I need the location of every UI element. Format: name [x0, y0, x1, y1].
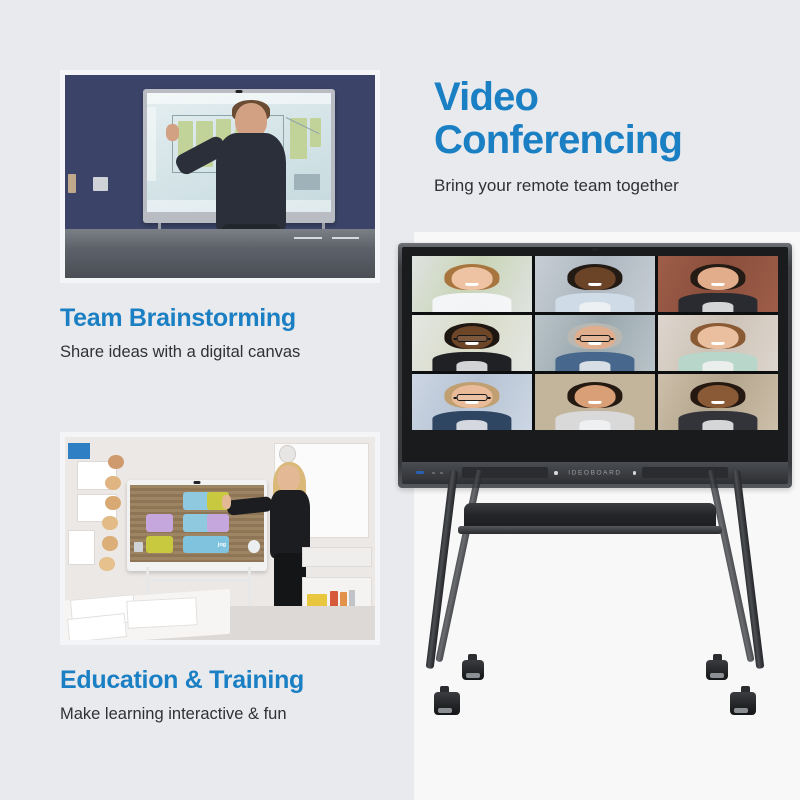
- wall-outlet-icon: [93, 177, 109, 191]
- activity-card-word: jog: [183, 536, 228, 554]
- video-participant-tile[interactable]: [535, 374, 655, 430]
- participant-glasses-icon: [457, 394, 488, 401]
- activity-card-image: [146, 536, 173, 554]
- participant-face: [698, 267, 739, 289]
- teacher-arm: [226, 496, 273, 516]
- decor-dot: [105, 496, 121, 510]
- activity-card-image: [146, 514, 173, 532]
- wall-poster: [68, 530, 95, 564]
- storage-tray-lip: [458, 526, 722, 534]
- feature-column: Team Brainstorming Share ideas with a di…: [0, 0, 414, 800]
- page-title: Video Conferencing: [434, 76, 774, 162]
- person-torso: [216, 133, 287, 231]
- caster-wheel-front: [730, 692, 756, 715]
- video-participant-tile[interactable]: [535, 315, 655, 371]
- participant-glasses-icon: [457, 335, 488, 342]
- video-participant-tile[interactable]: [658, 256, 778, 312]
- decor-dot: [105, 476, 121, 490]
- canvas-left-toolbar: [147, 107, 156, 181]
- next-arrow-icon: [248, 540, 260, 552]
- feature-subtitle: Make learning interactive & fun: [60, 704, 380, 725]
- mobile-display-stand: [398, 470, 792, 730]
- decor-dot: [102, 516, 118, 530]
- wall-poster: [68, 443, 90, 459]
- activity-card-target: [207, 514, 228, 532]
- menu-icon: [134, 542, 143, 552]
- feature-title: Education & Training: [60, 667, 380, 695]
- participant-collar: [579, 420, 610, 430]
- participant-collar: [579, 302, 610, 312]
- table-cable-port: [294, 237, 322, 239]
- participant-collar: [579, 361, 610, 371]
- teacher-head: [277, 465, 300, 491]
- feature-photo-education-training: mop wig jog: [60, 432, 380, 645]
- classroom-scene: mop wig jog: [65, 437, 375, 640]
- participant-glasses-icon: [580, 335, 611, 342]
- display-camera-icon: [592, 248, 599, 251]
- participant-face: [575, 267, 616, 289]
- video-participant-tile[interactable]: [412, 256, 532, 312]
- participant-collar: [702, 420, 733, 430]
- decor-dot: [99, 557, 115, 571]
- teacher-hand: [222, 495, 230, 509]
- video-participant-tile[interactable]: [535, 256, 655, 312]
- feature-photo-team-brainstorming: [60, 70, 380, 283]
- activity-word-label: jog: [218, 542, 226, 548]
- headline-subtitle: Bring your remote team together: [434, 176, 774, 196]
- brainstorming-scene: [65, 75, 375, 278]
- video-participant-tile[interactable]: [412, 315, 532, 371]
- participant-collar: [702, 302, 733, 312]
- caster-wheel: [462, 660, 484, 680]
- participant-collar: [702, 361, 733, 371]
- participant-face: [452, 267, 493, 289]
- feature-title: Team Brainstorming: [60, 305, 380, 333]
- headline-block: Video Conferencing Bring your remote tea…: [434, 76, 774, 196]
- video-participant-tile[interactable]: [658, 374, 778, 430]
- video-participant-tile[interactable]: [658, 315, 778, 371]
- caster-wheel: [706, 660, 728, 680]
- participant-collar: [456, 420, 487, 430]
- decor-dot: [102, 536, 118, 550]
- interactive-flat-panel-display: IDEOBOARD: [398, 243, 792, 488]
- participant-collar: [456, 302, 487, 312]
- table-cable-port: [332, 237, 360, 239]
- feature-card-education-training: mop wig jog: [60, 432, 380, 725]
- participant-face: [698, 385, 739, 407]
- participant-face: [575, 385, 616, 407]
- classroom-display-screen: mop wig jog: [130, 485, 264, 562]
- supply-tray: [302, 547, 372, 567]
- worksheet: [126, 598, 198, 630]
- headline-line-1: Video: [434, 75, 538, 119]
- chart-annotation: [294, 174, 320, 189]
- wall-panel-icon: [68, 174, 76, 192]
- display-camera-icon: [193, 481, 200, 484]
- classroom-display: mop wig jog: [127, 480, 267, 571]
- feature-card-team-brainstorming: Team Brainstorming Share ideas with a di…: [60, 70, 380, 363]
- video-conference-grid: [412, 256, 778, 430]
- participant-collar: [456, 361, 487, 371]
- headline-line-2: Conferencing: [434, 118, 682, 162]
- person-hand: [166, 124, 180, 141]
- participant-face: [698, 326, 739, 348]
- display-stand-crossbar: [146, 579, 251, 582]
- display-screen: [402, 247, 788, 462]
- caster-wheel-front: [434, 692, 460, 715]
- meeting-table: [65, 229, 375, 278]
- video-participant-tile[interactable]: [412, 374, 532, 430]
- feature-subtitle: Share ideas with a digital canvas: [60, 342, 380, 363]
